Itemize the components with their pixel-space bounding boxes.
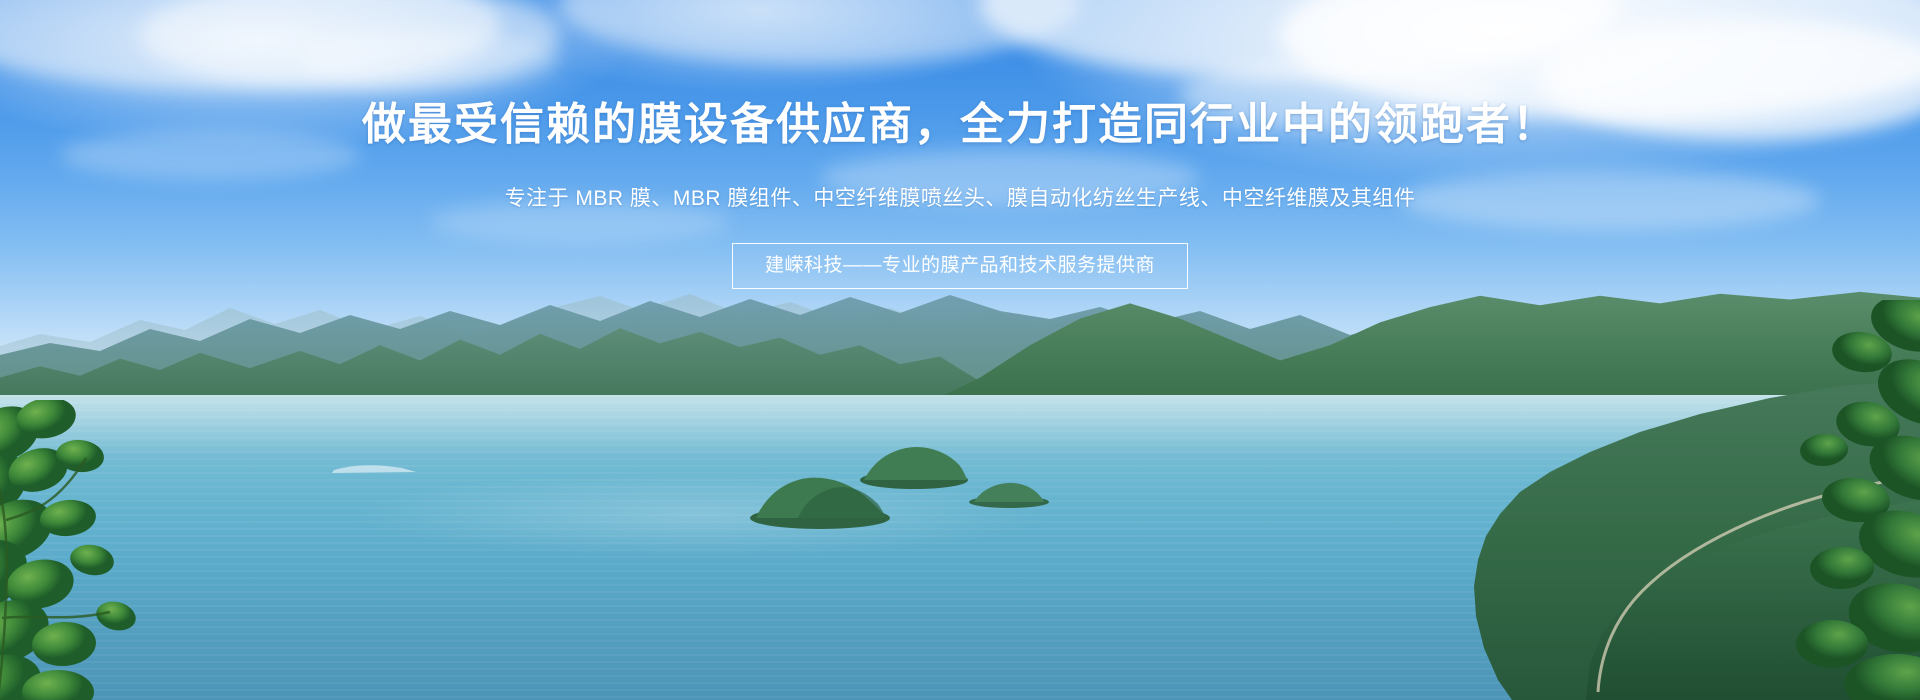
banner-tagline-wrap: 建嵘科技——专业的膜产品和技术服务提供商 [0, 243, 1920, 289]
island-small-right [854, 432, 974, 490]
island-tiny [966, 474, 1052, 508]
banner-subtitle: 专注于 MBR 膜、MBR 膜组件、中空纤维膜喷丝头、膜自动化纺丝生产线、中空纤… [0, 184, 1920, 214]
boat-wake [330, 460, 420, 476]
hero-banner: 做最受信赖的膜设备供应商，全力打造同行业中的领跑者！ 专注于 MBR 膜、MBR… [0, 0, 1920, 700]
banner-tagline-box: 建嵘科技——专业的膜产品和技术服务提供商 [732, 243, 1188, 289]
banner-headline: 做最受信赖的膜设备供应商，全力打造同行业中的领跑者！ [0, 98, 1920, 152]
foliage-right [1700, 300, 1920, 700]
foliage-left [0, 400, 240, 700]
cloud-shape [300, 30, 560, 90]
